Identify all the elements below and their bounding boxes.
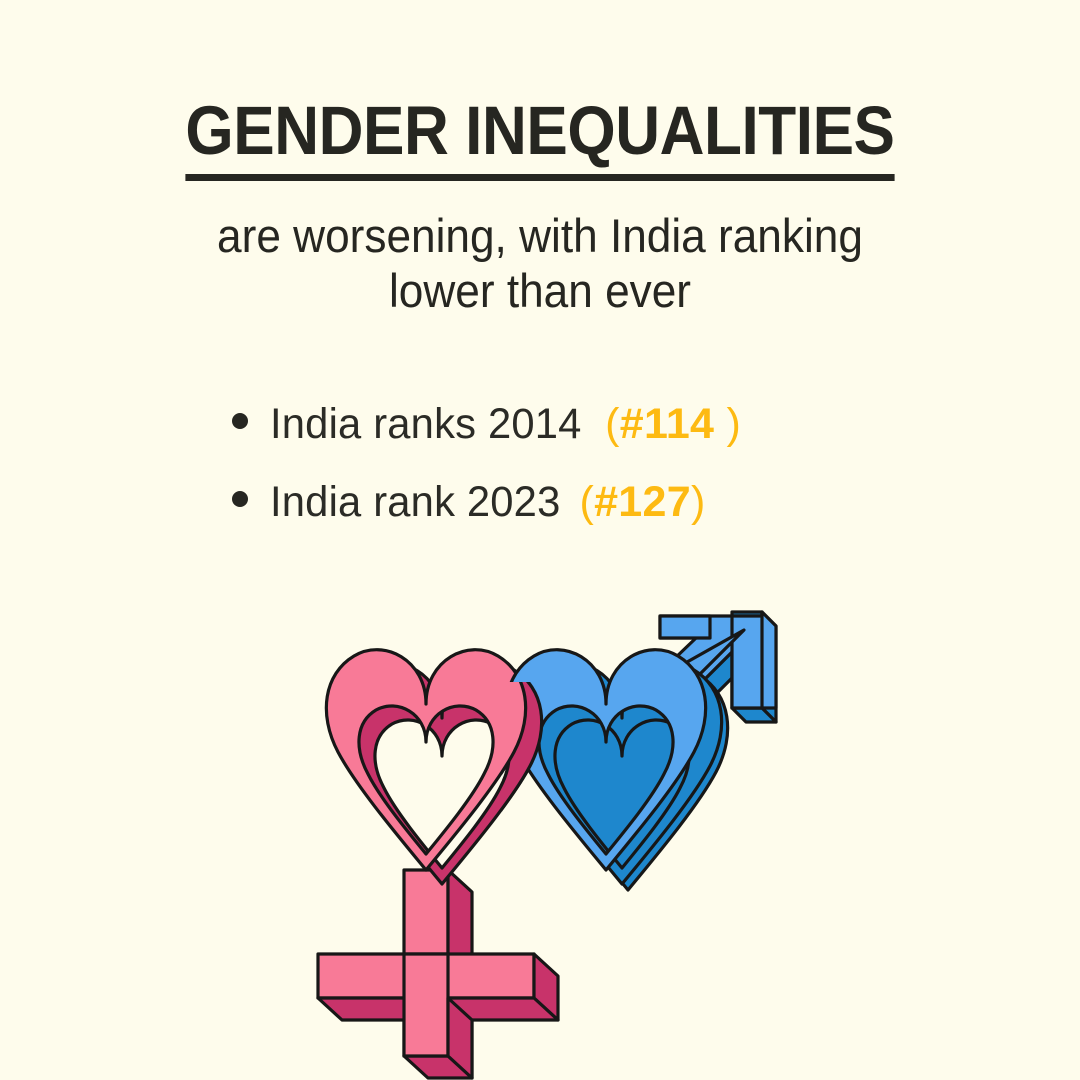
list-item: India ranks 2014 (#114 ) xyxy=(232,400,932,478)
fact-list: India ranks 2014 (#114 ) India rank 2023… xyxy=(232,400,932,556)
poster-canvas: GENDER INEQUALITIES are worsening, with … xyxy=(0,0,1080,1080)
rank-open-paren: ( xyxy=(605,400,620,448)
bullet-dot-icon xyxy=(232,491,248,507)
gender-symbols-svg xyxy=(276,586,816,1080)
subtitle-line-1: are worsening, with India ranking xyxy=(32,209,1047,264)
rank-close-paren: ) xyxy=(691,478,706,526)
rank-value: #127 xyxy=(594,478,691,526)
fact-label: India rank 2023 xyxy=(270,478,560,527)
page-subtitle: are worsening, with India ranking lower … xyxy=(32,209,1047,319)
bullet-dot-icon xyxy=(232,413,248,429)
heading-block: GENDER INEQUALITIES are worsening, with … xyxy=(0,96,1080,319)
rank-value: #114 xyxy=(620,400,715,448)
rank-badge: (#127) xyxy=(579,478,705,527)
subtitle-line-2: lower than ever xyxy=(32,264,1047,319)
rank-close-paren: ) xyxy=(714,400,741,448)
rank-open-paren: ( xyxy=(579,478,594,526)
list-item: India rank 2023 (#127) xyxy=(232,478,932,556)
venus-cross-icon xyxy=(318,870,558,1078)
page-title: GENDER INEQUALITIES xyxy=(185,96,894,181)
fact-label: India ranks 2014 xyxy=(270,400,582,449)
interlocking-heart-gender-symbols-illustration xyxy=(276,586,816,1080)
rank-badge: (#114 ) xyxy=(605,400,741,449)
